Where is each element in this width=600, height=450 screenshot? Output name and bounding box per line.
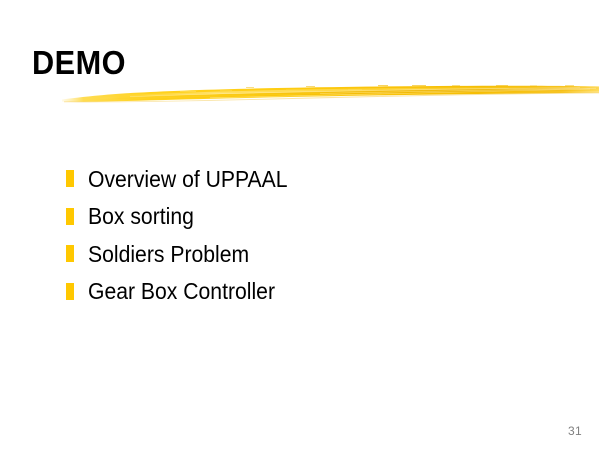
list-item: Box sorting <box>66 198 566 236</box>
gold-bar-bullet-icon <box>66 208 74 225</box>
gold-bar-bullet-icon <box>66 170 74 187</box>
list-item: Gear Box Controller <box>66 273 566 311</box>
list-item-label: Box sorting <box>88 204 194 228</box>
list-item-label: Gear Box Controller <box>88 279 275 303</box>
brush-stroke-underline-icon <box>60 78 600 108</box>
gold-bar-bullet-icon <box>66 283 74 300</box>
slide: DEMO <box>0 0 600 450</box>
list-item-label: Soldiers Problem <box>88 242 249 266</box>
list-item: Soldiers Problem <box>66 235 566 273</box>
page-title: DEMO <box>32 46 126 79</box>
page-number: 31 <box>568 424 582 438</box>
list-item: Overview of UPPAAL <box>66 160 566 198</box>
bullet-list: Overview of UPPAAL Box sorting Soldiers … <box>66 160 566 310</box>
gold-bar-bullet-icon <box>66 245 74 262</box>
list-item-label: Overview of UPPAAL <box>88 167 288 191</box>
